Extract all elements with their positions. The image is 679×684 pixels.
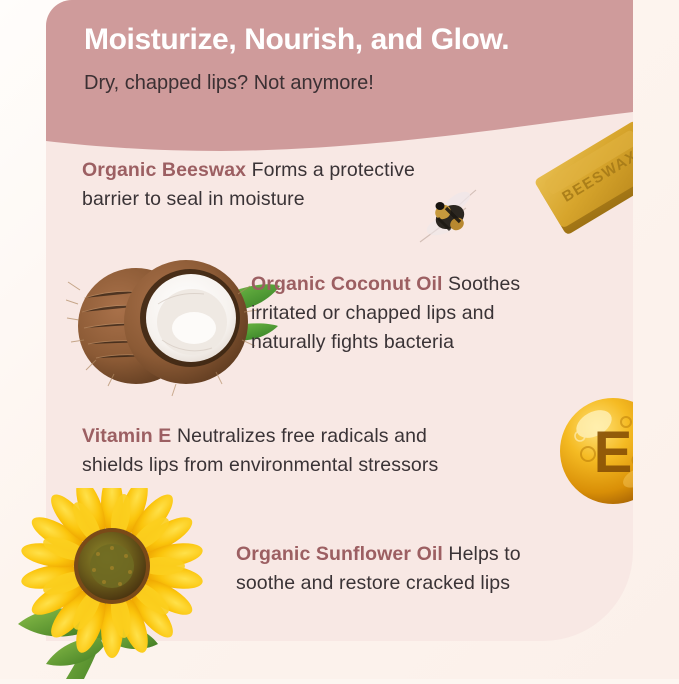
ingredient-block-vitamin-e: Vitamin E Neutralizes free radicals and … (82, 422, 572, 480)
coconut-line-3: naturally fights bacteria (251, 328, 633, 357)
coconut-line-1: Organic Coconut Oil Soothes (251, 270, 633, 299)
ingredient-name-beeswax: Organic Beeswax (82, 159, 246, 181)
coconut-icon (66, 248, 281, 398)
header-text-group: Moisturize, Nourish, and Glow. Dry, chap… (46, 0, 633, 130)
sunflower-line-2: soothe and restore cracked lips (236, 569, 633, 598)
sunflower-desc-1: Helps to (448, 543, 520, 565)
page-subtitle: Dry, chapped lips? Not anymore! (84, 72, 614, 95)
beeswax-line-2: barrier to seal in moisture (82, 185, 552, 214)
ingredient-name-vitamin-e: Vitamin E (82, 425, 171, 447)
ingredient-name-sunflower: Organic Sunflower Oil (236, 543, 443, 565)
coconut-line-2: irritated or chapped lips and (251, 299, 633, 328)
ingredient-name-coconut: Organic Coconut Oil (251, 273, 443, 295)
vitamin-e-letter: E (594, 420, 633, 485)
infographic-stage: Moisturize, Nourish, and Glow. Dry, chap… (0, 0, 679, 679)
sunflower-line-1: Organic Sunflower Oil Helps to (236, 540, 633, 569)
coconut-desc-1: Soothes (448, 273, 520, 295)
sunflower-leaf-left-lower (46, 638, 104, 666)
page-title: Moisturize, Nourish, and Glow. (84, 23, 614, 57)
ingredient-block-sunflower: Organic Sunflower Oil Helps to soothe an… (236, 540, 633, 598)
vitamin-e-line-1: Vitamin E Neutralizes free radicals and (82, 422, 572, 451)
vitamin-e-line-2: shields lips from environmental stressor… (82, 451, 572, 480)
beeswax-line-1: Organic Beeswax Forms a protective (82, 156, 552, 185)
sunflower-icon (8, 488, 228, 679)
ingredient-block-coconut: Organic Coconut Oil Soothes irritated or… (251, 270, 633, 357)
vitamin-e-desc-1: Neutralizes free radicals and (177, 425, 427, 447)
beeswax-desc-1: Forms a protective (252, 159, 415, 181)
ingredient-block-beeswax: Organic Beeswax Forms a protective barri… (82, 156, 552, 214)
